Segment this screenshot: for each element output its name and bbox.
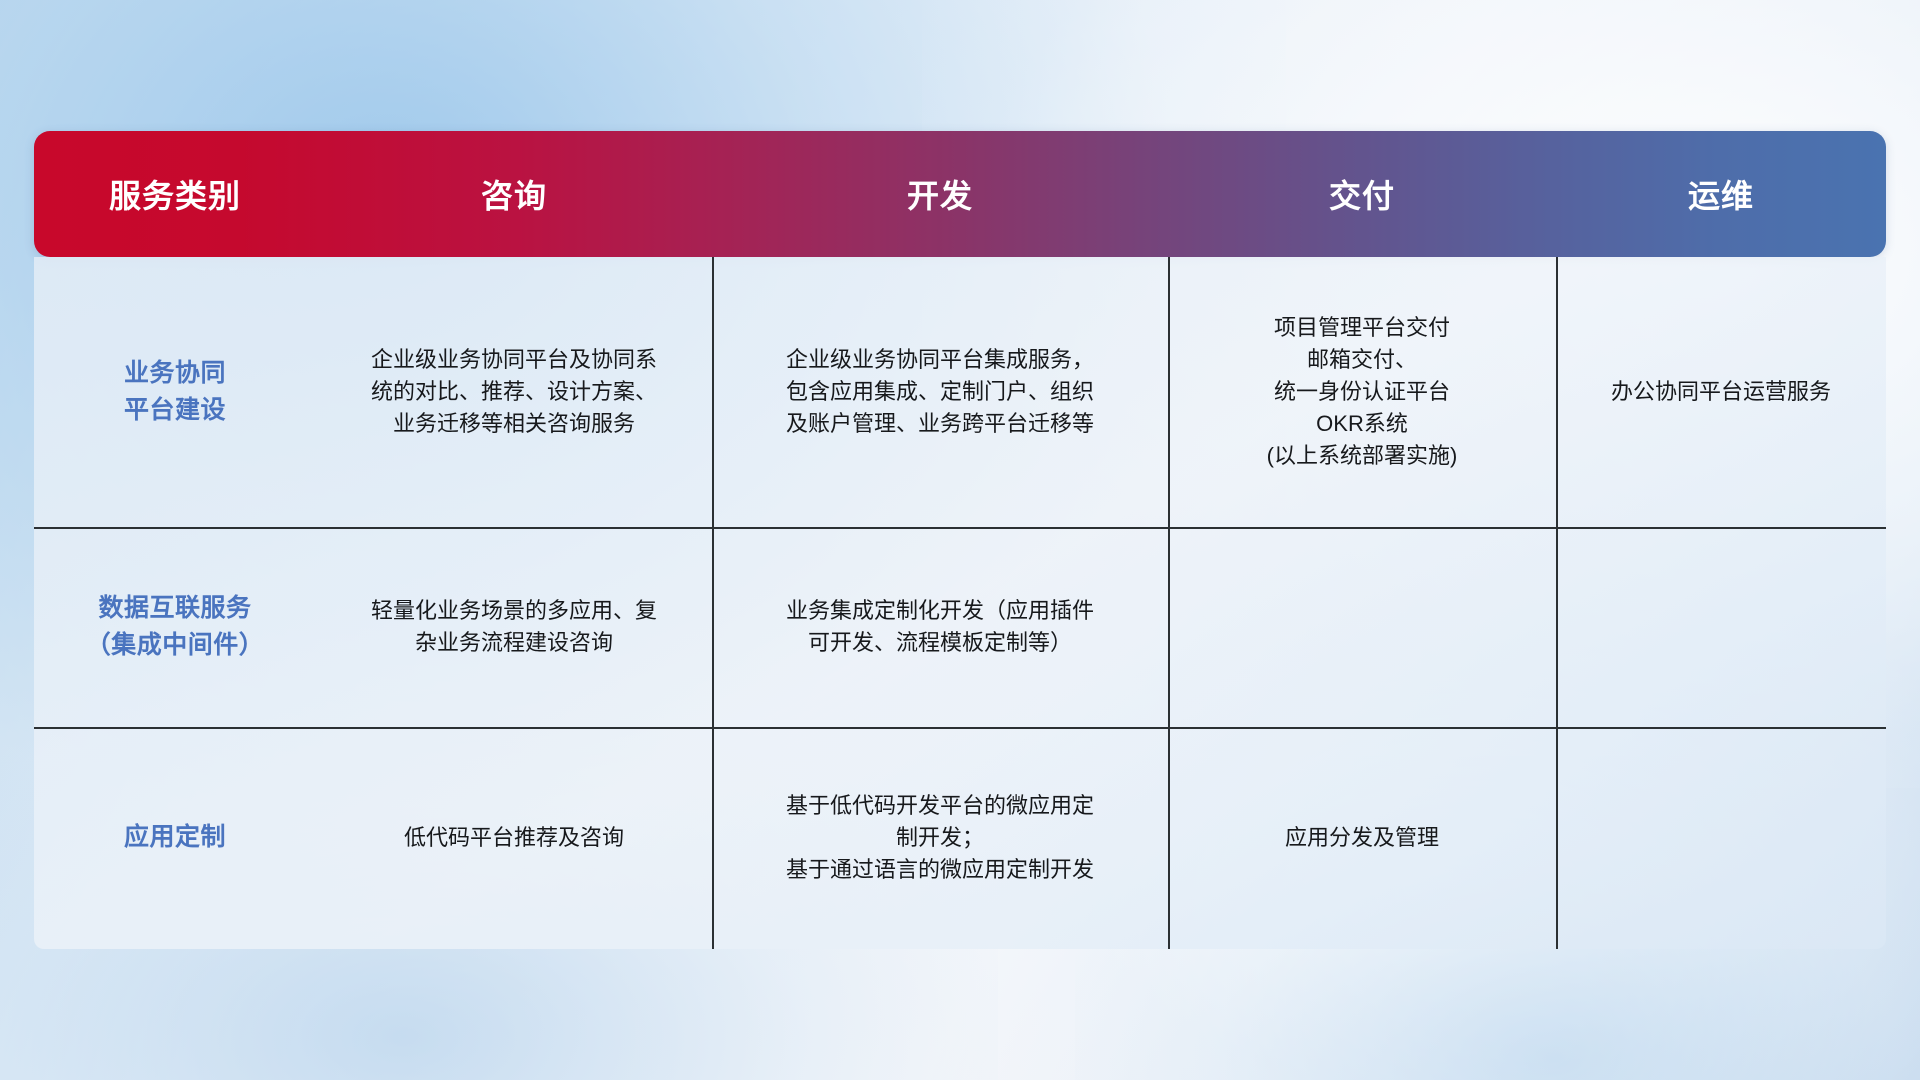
column-header-development: 开发 (712, 171, 1168, 217)
cell-delivery (1168, 527, 1556, 727)
cell-delivery: 应用分发及管理 (1168, 727, 1556, 949)
cell-consulting: 轻量化业务场景的多应用、复 杂业务流程建设咨询 (316, 527, 712, 727)
table-row: 应用定制 低代码平台推荐及咨询 基于低代码开发平台的微应用定 制开发； 基于通过… (34, 727, 1886, 949)
cell-development: 业务集成定制化开发（应用插件 可开发、流程模板定制等） (712, 527, 1168, 727)
cell-development: 基于低代码开发平台的微应用定 制开发； 基于通过语言的微应用定制开发 (712, 727, 1168, 949)
cell-delivery: 项目管理平台交付 邮箱交付、 统一身份认证平台 OKR系统 (以上系统部署实施) (1168, 257, 1556, 527)
cell-operations (1556, 527, 1886, 727)
cell-category: 数据互联服务 （集成中间件） (34, 527, 316, 727)
column-header-service-category: 服务类别 (34, 171, 316, 217)
column-header-consulting: 咨询 (316, 171, 712, 217)
table-row: 数据互联服务 （集成中间件） 轻量化业务场景的多应用、复 杂业务流程建设咨询 业… (34, 527, 1886, 727)
table-header-row: 服务类别 咨询 开发 交付 运维 (34, 131, 1886, 257)
column-header-operations: 运维 (1556, 171, 1886, 217)
cell-operations (1556, 727, 1886, 949)
table-body: 业务协同 平台建设 企业级业务协同平台及协同系 统的对比、推荐、设计方案、 业务… (34, 257, 1886, 949)
cell-operations: 办公协同平台运营服务 (1556, 257, 1886, 527)
cell-consulting: 低代码平台推荐及咨询 (316, 727, 712, 949)
cell-category: 业务协同 平台建设 (34, 257, 316, 527)
cell-consulting: 企业级业务协同平台及协同系 统的对比、推荐、设计方案、 业务迁移等相关咨询服务 (316, 257, 712, 527)
cell-category: 应用定制 (34, 727, 316, 949)
service-matrix-table: 服务类别 咨询 开发 交付 运维 业务协同 平台建设 企业级业务协同平台及协同系… (34, 131, 1886, 949)
column-header-delivery: 交付 (1168, 171, 1556, 217)
table-row: 业务协同 平台建设 企业级业务协同平台及协同系 统的对比、推荐、设计方案、 业务… (34, 257, 1886, 527)
cell-development: 企业级业务协同平台集成服务， 包含应用集成、定制门户、组织 及账户管理、业务跨平… (712, 257, 1168, 527)
